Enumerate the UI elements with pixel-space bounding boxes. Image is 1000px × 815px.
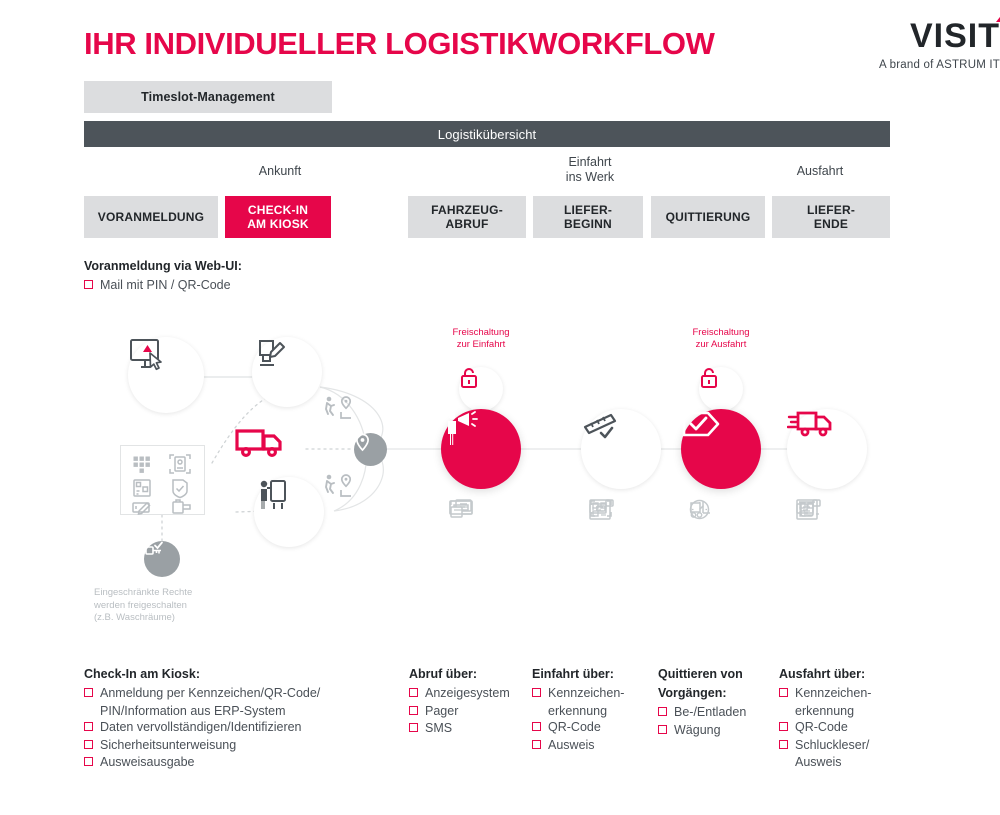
checkbox-icon[interactable] — [84, 280, 93, 289]
pedestrian-route-icon-top — [322, 395, 362, 423]
list-item[interactable]: Anmeldung per Kennzeichen/QR-Code/ — [84, 685, 394, 702]
phase-label-ankunft: Ankunft — [190, 164, 370, 179]
timeslot-label: Timeslot-Management — [141, 90, 275, 104]
column-title-line2: Vorgängen: — [658, 685, 783, 701]
list-item[interactable]: Kennzeichen- — [532, 685, 657, 702]
node-location-pin[interactable] — [354, 433, 387, 466]
node-unlock-einfahrt[interactable] — [459, 367, 503, 411]
checkbox-icon[interactable] — [409, 723, 418, 732]
node-access-key[interactable] — [144, 541, 180, 577]
barrier-check-icon — [581, 409, 621, 443]
truck-red-icon-wrapper — [234, 427, 306, 471]
caption-line3: (z.B. Waschräume) — [94, 612, 229, 625]
list-item[interactable]: Wägung — [658, 722, 783, 739]
list-item-label: Ausweisausgabe — [100, 754, 195, 771]
column-title: Check-In am Kiosk: — [84, 666, 394, 682]
permissions-icon-grid — [121, 446, 206, 516]
checkbox-icon[interactable] — [779, 722, 788, 731]
map-pin-icon — [354, 433, 371, 452]
permissions-icon-box — [120, 445, 205, 515]
list-item-label: Wägung — [674, 722, 721, 739]
checkbox-icon[interactable] — [84, 740, 93, 749]
checkbox-icon[interactable] — [84, 722, 93, 731]
web-ui-title: Voranmeldung via Web-UI: — [84, 259, 414, 273]
unlock-label-line1: Freischaltung — [661, 327, 781, 339]
node-sign-document[interactable] — [252, 337, 322, 407]
list-item[interactable]: Ausweisausgabe — [84, 754, 394, 771]
checkbox-icon[interactable] — [658, 707, 667, 716]
list-item[interactable]: Daten vervollständigen/Identifizieren — [84, 719, 394, 736]
node-fahrzeugabruf[interactable] — [441, 409, 521, 489]
triangle-icon — [996, 8, 1000, 22]
pedestrian-route-icon — [322, 473, 362, 501]
bottom-column-einfahrt: Einfahrt über: Kennzeichen- erkennung QR… — [532, 666, 657, 754]
tab-label-line2: AM KIOSK — [247, 217, 309, 231]
list-item-label: Daten vervollständigen/Identifizieren — [100, 719, 302, 736]
pedestrian-route-icon — [322, 395, 362, 423]
tab-lieferende[interactable]: LIEFER- ENDE — [772, 196, 890, 238]
phase-label-einfahrt: Einfahrt ins Werk — [500, 155, 680, 185]
list-item[interactable]: Sicherheitsunterweisung — [84, 737, 394, 754]
sms-message-icon — [449, 499, 473, 516]
logistics-overview-bar: Logistikübersicht — [84, 121, 890, 147]
checkbox-icon[interactable] — [532, 688, 541, 697]
kiosk-person-icon — [254, 477, 290, 513]
page-title: IHR INDIVIDUELLER LOGISTIKWORKFLOW — [84, 22, 916, 66]
unlock-label-ausfahrt: Freischaltung zur Ausfahrt — [661, 327, 781, 351]
checkbox-icon[interactable] — [532, 722, 541, 731]
unlock-label-line1: Freischaltung — [421, 327, 541, 339]
list-item[interactable]: QR-Code — [779, 719, 909, 736]
phase-text: Ausfahrt — [797, 164, 844, 178]
phase-text-line2: ins Werk — [500, 170, 680, 185]
tag-check-icon — [681, 409, 723, 439]
tab-label-line1: LIEFER- — [564, 203, 612, 217]
web-ui-block: Voranmeldung via Web-UI: Mail mit PIN / … — [84, 259, 414, 294]
tab-lieferbeginn[interactable]: LIEFER- BEGINN — [533, 196, 643, 238]
tab-quittierung[interactable]: QUITTIERUNG — [651, 196, 765, 238]
list-item-label: Pager — [425, 703, 458, 720]
node-lieferende[interactable] — [787, 409, 867, 489]
list-item-label: QR-Code — [548, 719, 601, 736]
tab-label-line1: LIEFER- — [807, 203, 855, 217]
open-lock-icon — [459, 367, 479, 389]
list-item[interactable]: Schluckleser/ — [779, 737, 909, 754]
list-item-label: Sicherheitsunterweisung — [100, 737, 236, 754]
truck-exit-icon — [787, 409, 833, 441]
checkbox-icon[interactable] — [779, 740, 788, 749]
checkbox-icon[interactable] — [409, 688, 418, 697]
list-item-label: Be-/Entladen — [674, 704, 746, 721]
list-item-label: Kennzeichen- — [795, 685, 871, 702]
scan-badge-icon — [170, 455, 190, 473]
tab-label-line1: CHECK-IN — [247, 203, 309, 217]
brand-tagline: A brand of ASTRUM IT — [830, 59, 1000, 71]
unlock-label-line2: zur Einfahrt — [421, 339, 541, 351]
overview-bar-label: Logistikübersicht — [438, 127, 537, 142]
list-item-label: Anzeigesystem — [425, 685, 510, 702]
column-title: Einfahrt über: — [532, 666, 657, 682]
caption-line2: werden freigeschalten — [94, 600, 229, 613]
unlock-label-line2: zur Ausfahrt — [661, 339, 781, 351]
page-header: IHR INDIVIDUELLER LOGISTIKWORKFLOW — [84, 22, 916, 82]
list-item[interactable]: Ausweis — [532, 737, 657, 754]
checkbox-icon[interactable] — [84, 688, 93, 697]
list-item-continuation: erkennung — [779, 703, 909, 720]
tab-label-line2: ABRUF — [431, 217, 503, 231]
node-lieferbeginn[interactable] — [581, 409, 661, 489]
restricted-rights-caption: Eingeschränkte Rechte werden freigeschal… — [94, 587, 229, 625]
phase-text: Ankunft — [259, 164, 301, 178]
node-monitor-cursor[interactable] — [128, 337, 204, 413]
checkbox-icon[interactable] — [658, 725, 667, 734]
tab-label-line2: BEGINN — [564, 217, 612, 231]
key-check-icon — [144, 541, 164, 559]
node-kiosk-person[interactable] — [254, 477, 324, 547]
tab-check-in-am-kiosk[interactable]: CHECK-IN AM KIOSK — [225, 196, 331, 238]
node-quittierung[interactable] — [681, 409, 761, 489]
list-item[interactable]: Mail mit PIN / QR-Code — [84, 277, 414, 293]
bottom-column-abruf: Abruf über: Anzeigesystem Pager SMS — [409, 666, 529, 738]
sign-document-icon — [252, 337, 288, 373]
list-item[interactable]: Be-/Entladen — [658, 704, 783, 721]
phase-text-line1: Einfahrt — [500, 155, 680, 170]
list-item[interactable]: Anzeigesystem — [409, 685, 529, 702]
checkbox-icon[interactable] — [779, 688, 788, 697]
list-item-label: QR-Code — [795, 719, 848, 736]
checkbox-icon[interactable] — [532, 740, 541, 749]
bottom-column-check-in: Check-In am Kiosk: Anmeldung per Kennzei… — [84, 666, 394, 772]
list-item-label: Anmeldung per Kennzeichen/QR-Code/ — [100, 685, 320, 702]
shield-check-icon — [173, 480, 187, 498]
checkbox-icon[interactable] — [409, 706, 418, 715]
tab-label-line2: ENDE — [807, 217, 855, 231]
megaphone-person-icon — [441, 409, 481, 447]
timeslot-management-chip[interactable]: Timeslot-Management — [84, 81, 332, 113]
caption-line1: Eingeschränkte Rechte — [94, 587, 229, 600]
list-item-label: Kennzeichen- — [548, 685, 624, 702]
brand-wordmark: VISIT — [910, 18, 1000, 54]
column-title: Quittieren von — [658, 666, 783, 682]
badge-printer-icon — [173, 500, 190, 513]
list-item-label: Mail mit PIN / QR-Code — [100, 277, 231, 293]
tab-fahrzeug-abruf[interactable]: FAHRZEUG- ABRUF — [408, 196, 526, 238]
list-item-continuation: erkennung — [532, 703, 657, 720]
list-item-continuation: Ausweis — [779, 754, 909, 771]
truck-icon — [234, 427, 286, 459]
list-item[interactable]: QR-Code — [532, 719, 657, 736]
list-item-label: Ausweis — [548, 737, 595, 754]
qr-code-icon — [134, 480, 150, 496]
list-item-label: SMS — [425, 720, 452, 737]
monitor-cursor-icon — [128, 337, 168, 375]
bottom-column-ausfahrt: Ausfahrt über: Kennzeichen- erkennung QR… — [779, 666, 909, 771]
list-item[interactable]: SMS — [409, 720, 529, 737]
tab-label-line1: FAHRZEUG- — [431, 203, 503, 217]
bottom-column-quittieren: Quittieren von Vorgängen: Be-/Entladen W… — [658, 666, 783, 739]
open-lock-icon — [699, 367, 719, 389]
badge-return-icon — [796, 499, 820, 519]
list-item-continuation: PIN/Information aus ERP-System — [84, 703, 394, 720]
column-title: Abruf über: — [409, 666, 529, 682]
checkbox-icon[interactable] — [84, 757, 93, 766]
list-item[interactable]: Kennzeichen- — [779, 685, 909, 702]
scan-badge-icon — [589, 499, 613, 518]
node-unlock-ausfahrt[interactable] — [699, 367, 743, 411]
phase-label-ausfahrt: Ausfahrt — [740, 164, 900, 179]
brand-name-text: VISIT — [910, 17, 1000, 55]
column-title: Ausfahrt über: — [779, 666, 909, 682]
workflow-diagram: Eingeschränkte Rechte werden freigeschal… — [84, 315, 904, 660]
unlock-label-einfahrt: Freischaltung zur Einfahrt — [421, 327, 541, 351]
tab-label-line1: VORANMELDUNG — [98, 210, 204, 224]
list-item[interactable]: Pager — [409, 703, 529, 720]
list-item-label: Schluckleser/ — [795, 737, 869, 754]
keypad-icon — [134, 457, 149, 472]
tab-label-line1: QUITTIERUNG — [666, 210, 751, 224]
pedestrian-route-icon-bottom — [322, 473, 362, 501]
scale-gauge-icon — [689, 499, 710, 520]
card-sign-icon — [133, 503, 150, 514]
brand-logo: VISIT A brand of ASTRUM IT — [830, 18, 1000, 71]
tab-voranmeldung[interactable]: VORANMELDUNG — [84, 196, 218, 238]
